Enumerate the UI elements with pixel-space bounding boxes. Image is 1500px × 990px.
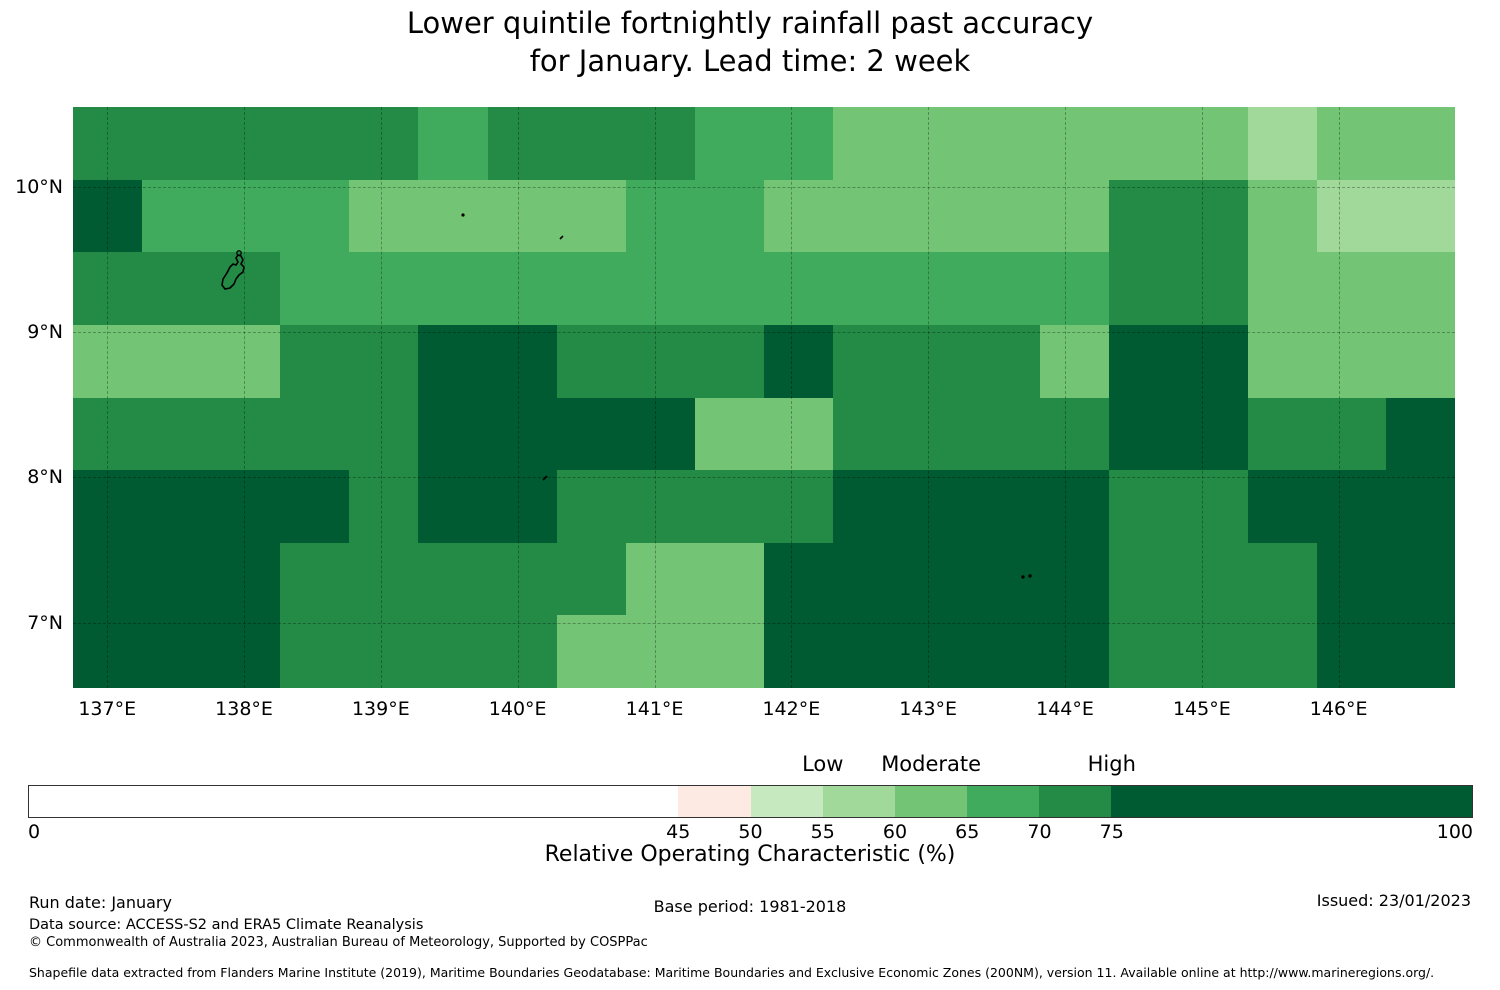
heatmap-cell [280,252,349,325]
heatmap-cell [626,107,695,180]
x-axis-tick-label: 143°E [899,698,957,720]
heatmap-cell [1109,543,1178,616]
heatmap-cell [1040,180,1109,253]
heatmap-cell [73,107,142,180]
heatmap-cell [557,107,626,180]
heatmap-cell [73,543,142,616]
heatmap-cell [833,543,902,616]
heatmap-cell [557,252,626,325]
colorbar-segment [1039,786,1111,817]
heatmap-cell [1179,325,1248,398]
heatmap-cell [488,615,557,688]
heatmap-cell [1317,398,1386,471]
heatmap-cell [902,107,971,180]
heatmap-cell [764,543,833,616]
base-period-text: Base period: 1981-2018 [0,897,1500,916]
heatmap-cell [557,398,626,471]
heatmap-cell [418,180,487,253]
heatmap-cell [280,180,349,253]
heatmap-cell [1386,543,1455,616]
heatmap-cell [764,107,833,180]
heatmap-cell [1040,543,1109,616]
heatmap-cell [280,470,349,543]
heatmap-cell [695,325,764,398]
heatmap-cell [1386,325,1455,398]
heatmap-cell [211,325,280,398]
heatmap-cell [1248,615,1317,688]
heatmap-cell [1386,470,1455,543]
heatmap-cell [557,615,626,688]
page-title: Lower quintile fortnightly rainfall past… [0,4,1500,80]
colorbar-tick-label: 50 [738,821,762,843]
heatmap-cell [833,107,902,180]
heatmap-cell [1179,543,1248,616]
heatmap-cell [971,180,1040,253]
heatmap-cell [971,470,1040,543]
heatmap-cell [73,615,142,688]
heatmap-cell [902,252,971,325]
heatmap-cell [1109,107,1178,180]
heatmap-cell [488,325,557,398]
heatmap-cell [902,180,971,253]
heatmap-cell [349,180,418,253]
heatmap-cell [695,252,764,325]
heatmap-cell [626,470,695,543]
colorbar-segment [1111,786,1472,817]
heatmap-cell [73,398,142,471]
heatmap-cell [142,615,211,688]
heatmap-cell [1179,180,1248,253]
heatmap-cell [764,615,833,688]
heatmap-cell [695,470,764,543]
colorbar-category-label: High [1088,752,1136,776]
heatmap-cell-grid [73,107,1455,688]
colorbar-tick-label: 70 [1027,821,1051,843]
heatmap-cell [142,252,211,325]
heatmap-cell [280,398,349,471]
heatmap-cell [349,615,418,688]
heatmap-cell [280,107,349,180]
x-axis-tick-label: 144°E [1036,698,1094,720]
colorbar-tick-label: 65 [955,821,979,843]
heatmap-cell [1248,398,1317,471]
colorbar-tick-label: 45 [666,821,690,843]
heatmap-cell [695,180,764,253]
heatmap-cell [1386,615,1455,688]
heatmap-cell [764,470,833,543]
heatmap-cell [1109,398,1178,471]
heatmap-cell [695,107,764,180]
heatmap-cell [695,398,764,471]
x-axis-tick-label: 141°E [626,698,684,720]
heatmap-cell [488,107,557,180]
heatmap-cell [211,252,280,325]
heatmap-cell [557,180,626,253]
heatmap-cell [1109,470,1178,543]
heatmap-cell [1109,325,1178,398]
colorbar-tick-label: 60 [883,821,907,843]
heatmap-cell [695,543,764,616]
heatmap-cell [1248,543,1317,616]
x-axis-tick-label: 137°E [78,698,136,720]
heatmap-cell [902,470,971,543]
heatmap-cell [418,107,487,180]
heatmap-cell [1109,180,1178,253]
x-axis-tick-label: 140°E [489,698,547,720]
heatmap-cell [626,398,695,471]
heatmap-cell [1040,615,1109,688]
x-axis-tick-label: 138°E [215,698,273,720]
heatmap-cell [73,252,142,325]
heatmap-cell [902,325,971,398]
heatmap-cell [833,252,902,325]
heatmap-cell [626,325,695,398]
heatmap-cell [418,543,487,616]
heatmap-cell [488,180,557,253]
heatmap-cell [142,543,211,616]
heatmap-cell [1386,252,1455,325]
heatmap-cell [1179,252,1248,325]
heatmap-cell [211,543,280,616]
heatmap-cell [488,470,557,543]
heatmap-cell [1386,398,1455,471]
y-axis-tick-label: 8°N [27,466,63,488]
heatmap-cell [1040,398,1109,471]
colorbar-tick-label: 55 [811,821,835,843]
heatmap-cell [418,615,487,688]
heatmap-cell [902,543,971,616]
heatmap-cell [626,180,695,253]
heatmap-cell [971,615,1040,688]
heatmap-cell [1317,615,1386,688]
heatmap-cell [971,107,1040,180]
colorbar-segment [895,786,967,817]
heatmap-cell [73,180,142,253]
heatmap-cell [1040,470,1109,543]
heatmap-cell [557,543,626,616]
y-axis-tick-label: 7°N [27,612,63,634]
y-axis-tick-label: 9°N [27,321,63,343]
heatmap-cell [349,107,418,180]
heatmap-cell [764,180,833,253]
heatmap-cell [349,543,418,616]
heatmap-cell [1179,107,1248,180]
heatmap-cell [1040,107,1109,180]
heatmap-cell [1040,252,1109,325]
heatmap-cell [971,398,1040,471]
copyright-text: © Commonwealth of Australia 2023, Austra… [29,935,648,950]
heatmap-cell [349,252,418,325]
heatmap-cell [349,325,418,398]
heatmap-cell [1317,252,1386,325]
heatmap-cell [418,252,487,325]
heatmap-cell [211,398,280,471]
colorbar-category-label: Low [802,752,843,776]
heatmap-cell [833,180,902,253]
heatmap-cell [1317,107,1386,180]
heatmap-cell [1179,615,1248,688]
heatmap-cell [1317,470,1386,543]
heatmap-plot [73,107,1455,688]
colorbar-segment [967,786,1039,817]
colorbar-axis-label: Relative Operating Characteristic (%) [0,842,1500,867]
colorbar-segment [823,786,895,817]
colorbar-gradient [28,785,1473,818]
colorbar-tick-label: 100 [1437,821,1473,843]
heatmap-cell [142,107,211,180]
colorbar-category-label: Moderate [881,752,981,776]
heatmap-cell [833,615,902,688]
heatmap-cell [488,543,557,616]
heatmap-cell [902,615,971,688]
heatmap-cell [971,325,1040,398]
colorbar-segment [751,786,823,817]
colorbar-segment [29,786,678,817]
colorbar-tick-label: 0 [28,821,40,843]
heatmap-cell [902,398,971,471]
heatmap-cell [211,180,280,253]
heatmap-cell [1248,252,1317,325]
x-axis-tick-label: 139°E [352,698,410,720]
heatmap-cell [349,470,418,543]
heatmap-cell [280,325,349,398]
x-axis-tick-label: 142°E [762,698,820,720]
x-axis-tick-label: 145°E [1173,698,1231,720]
heatmap-cell [764,325,833,398]
heatmap-cell [1317,180,1386,253]
heatmap-cell [1179,470,1248,543]
heatmap-cell [1109,615,1178,688]
heatmap-cell [142,398,211,471]
x-axis-tick-label: 146°E [1310,698,1368,720]
heatmap-cell [349,398,418,471]
heatmap-cell [833,325,902,398]
colorbar: 045505560657075100 LowModerateHigh [28,785,1473,818]
heatmap-cell [211,615,280,688]
heatmap-cell [1317,325,1386,398]
heatmap-cell [73,470,142,543]
heatmap-cell [833,470,902,543]
colorbar-tick-label: 75 [1100,821,1124,843]
heatmap-cell [488,398,557,471]
heatmap-cell [1179,398,1248,471]
heatmap-cell [1248,107,1317,180]
heatmap-cell [488,252,557,325]
heatmap-cell [557,325,626,398]
heatmap-cell [418,325,487,398]
heatmap-cell [73,325,142,398]
heatmap-cell [971,543,1040,616]
heatmap-cell [142,180,211,253]
heatmap-cell [1248,325,1317,398]
heatmap-cell [1040,325,1109,398]
heatmap-cell [1248,470,1317,543]
heatmap-cell [280,543,349,616]
heatmap-cell [1248,180,1317,253]
heatmap-cell [1386,180,1455,253]
heatmap-cell [211,107,280,180]
heatmap-cell [1317,543,1386,616]
heatmap-cell [211,470,280,543]
heatmap-cell [764,398,833,471]
issued-date-text: Issued: 23/01/2023 [1317,891,1471,910]
heatmap-cell [418,470,487,543]
heatmap-cell [142,470,211,543]
y-axis-tick-label: 10°N [15,176,63,198]
shapefile-credit-text: Shapefile data extracted from Flanders M… [29,965,1434,980]
heatmap-cell [557,470,626,543]
heatmap-cell [626,543,695,616]
heatmap-cell [971,252,1040,325]
heatmap-cell [418,398,487,471]
heatmap-cell [695,615,764,688]
heatmap-cell [1386,107,1455,180]
data-source-text: Data source: ACCESS-S2 and ERA5 Climate … [29,917,423,933]
heatmap-cell [764,252,833,325]
heatmap-cell [626,252,695,325]
heatmap-cell [142,325,211,398]
heatmap-cell [626,615,695,688]
colorbar-segment [678,786,750,817]
heatmap-cell [1109,252,1178,325]
heatmap-cell [280,615,349,688]
heatmap-cell [833,398,902,471]
